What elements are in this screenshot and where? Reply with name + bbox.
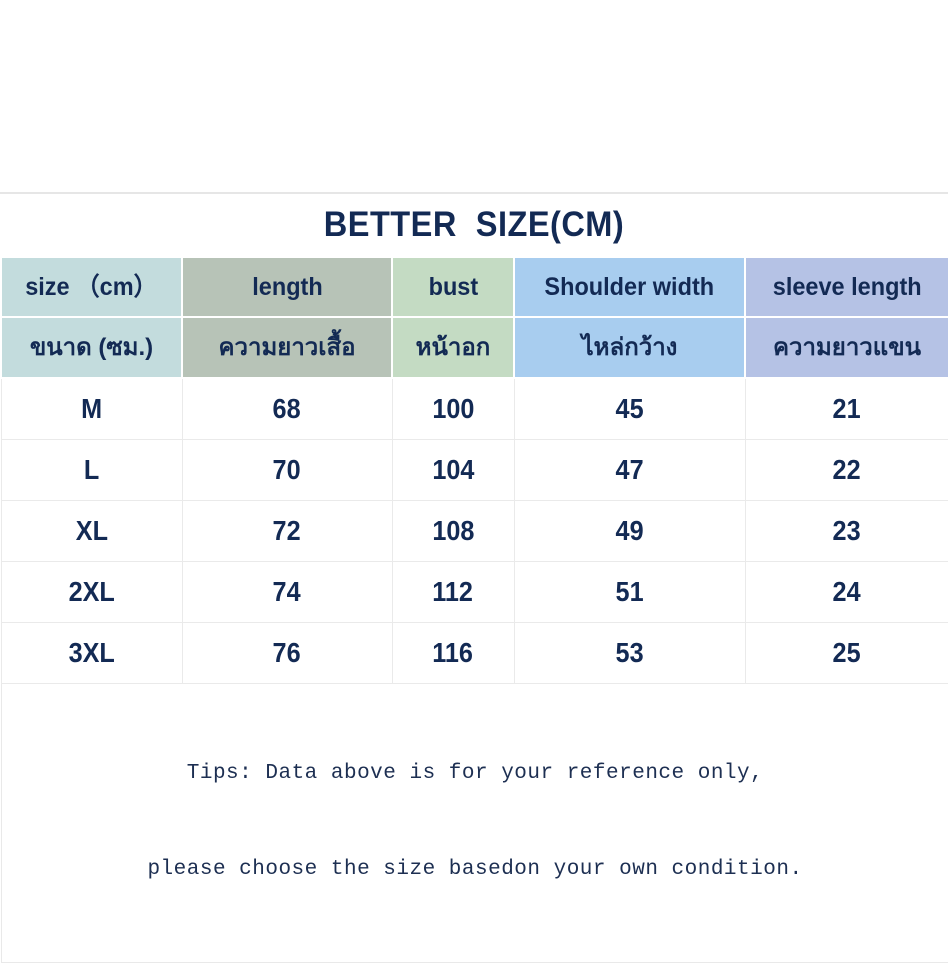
value-length: 68 — [273, 379, 301, 439]
cell-length: 74 — [182, 562, 392, 623]
header-label-bust-th: หน้าอก — [416, 319, 491, 377]
size-chart-block: BETTER SIZE(CM) size （cm） length — [0, 194, 948, 963]
header-label-shoulder-th: ไหล่กว้าง — [582, 319, 678, 377]
chart-title: BETTER SIZE(CM) — [33, 194, 915, 256]
cell-shoulder: 49 — [514, 501, 745, 562]
value-sleeve: 22 — [833, 440, 861, 500]
header-label-size-th: ขนาด (ซม.) — [30, 319, 153, 377]
table-header-row-english: size （cm） length bust Shoulder width sle… — [1, 257, 948, 317]
cell-bust: 116 — [392, 623, 514, 684]
value-sleeve: 21 — [833, 379, 861, 439]
header-cell-bust-th: หน้าอก — [392, 317, 514, 378]
header-label-length-en: length — [252, 258, 323, 316]
cell-size: XL — [1, 501, 182, 562]
value-bust: 112 — [433, 562, 474, 622]
cell-sleeve: 21 — [745, 378, 948, 440]
cell-shoulder: 45 — [514, 378, 745, 440]
value-size: 2XL — [68, 562, 114, 622]
header-cell-sleeve-en: sleeve length — [745, 257, 948, 317]
cell-length: 70 — [182, 440, 392, 501]
value-bust: 100 — [432, 379, 474, 439]
value-shoulder: 51 — [615, 562, 643, 622]
header-label-sleeve-th: ความยาวแขน — [773, 319, 921, 377]
header-cell-shoulder-th: ไหล่กว้าง — [514, 317, 745, 378]
value-sleeve: 23 — [833, 501, 861, 561]
cell-sleeve: 24 — [745, 562, 948, 623]
value-length: 72 — [273, 501, 301, 561]
header-label-bust-en: bust — [428, 258, 478, 316]
cell-length: 72 — [182, 501, 392, 562]
cell-length: 68 — [182, 378, 392, 440]
header-label-sleeve-en: sleeve length — [773, 258, 922, 316]
cell-bust: 100 — [392, 378, 514, 440]
header-cell-size-th: ขนาด (ซม.) — [1, 317, 182, 378]
cell-bust: 108 — [392, 501, 514, 562]
tips-cell: Tips: Data above is for your reference o… — [1, 684, 948, 963]
table-row: XL 72 108 49 23 — [1, 501, 948, 562]
size-chart-page: BETTER SIZE(CM) size （cm） length — [0, 0, 948, 948]
table-row: M 68 100 45 21 — [1, 378, 948, 440]
table-row: 2XL 74 112 51 24 — [1, 562, 948, 623]
value-length: 74 — [273, 562, 301, 622]
value-sleeve: 25 — [833, 623, 861, 683]
cell-shoulder: 47 — [514, 440, 745, 501]
tips-text: Tips: Data above is for your reference o… — [2, 694, 948, 950]
tips-line-1: Tips: Data above is for your reference o… — [2, 758, 948, 790]
table-footer-row: Tips: Data above is for your reference o… — [1, 684, 948, 963]
cell-shoulder: 51 — [514, 562, 745, 623]
value-length: 76 — [273, 623, 301, 683]
header-cell-sleeve-th: ความยาวแขน — [745, 317, 948, 378]
table-row: 3XL 76 116 53 25 — [1, 623, 948, 684]
value-shoulder: 47 — [615, 440, 643, 500]
value-sleeve: 24 — [833, 562, 861, 622]
value-shoulder: 53 — [615, 623, 643, 683]
header-cell-shoulder-en: Shoulder width — [514, 257, 745, 317]
header-label-length-th: ความยาวเสื้อ — [218, 319, 355, 377]
value-bust: 108 — [432, 501, 474, 561]
cell-length: 76 — [182, 623, 392, 684]
cell-size: M — [1, 378, 182, 440]
table-header-row-thai: ขนาด (ซม.) ความยาวเสื้อ หน้าอก ไหล่กว้าง… — [1, 317, 948, 378]
table-row: L 70 104 47 22 — [1, 440, 948, 501]
cell-bust: 112 — [392, 562, 514, 623]
header-cell-length-en: length — [182, 257, 392, 317]
value-bust: 104 — [432, 440, 474, 500]
cell-sleeve: 23 — [745, 501, 948, 562]
header-label-size-en: size （cm） — [26, 258, 158, 316]
value-shoulder: 49 — [615, 501, 643, 561]
cell-size: 3XL — [1, 623, 182, 684]
cell-sleeve: 25 — [745, 623, 948, 684]
cell-size: 2XL — [1, 562, 182, 623]
header-cell-bust-en: bust — [392, 257, 514, 317]
cell-size: L — [1, 440, 182, 501]
value-length: 70 — [273, 440, 301, 500]
value-shoulder: 45 — [615, 379, 643, 439]
cell-bust: 104 — [392, 440, 514, 501]
cell-shoulder: 53 — [514, 623, 745, 684]
value-size: 3XL — [68, 623, 114, 683]
value-size: XL — [75, 501, 107, 561]
cell-sleeve: 22 — [745, 440, 948, 501]
value-size: M — [81, 379, 102, 439]
header-label-shoulder-en: Shoulder width — [545, 258, 715, 316]
header-cell-size-en: size （cm） — [1, 257, 182, 317]
size-table: size （cm） length bust Shoulder width sle… — [0, 256, 948, 963]
value-size: L — [84, 440, 99, 500]
tips-line-2: please choose the size basedon your own … — [2, 854, 948, 886]
header-cell-length-th: ความยาวเสื้อ — [182, 317, 392, 378]
value-bust: 116 — [433, 623, 474, 683]
